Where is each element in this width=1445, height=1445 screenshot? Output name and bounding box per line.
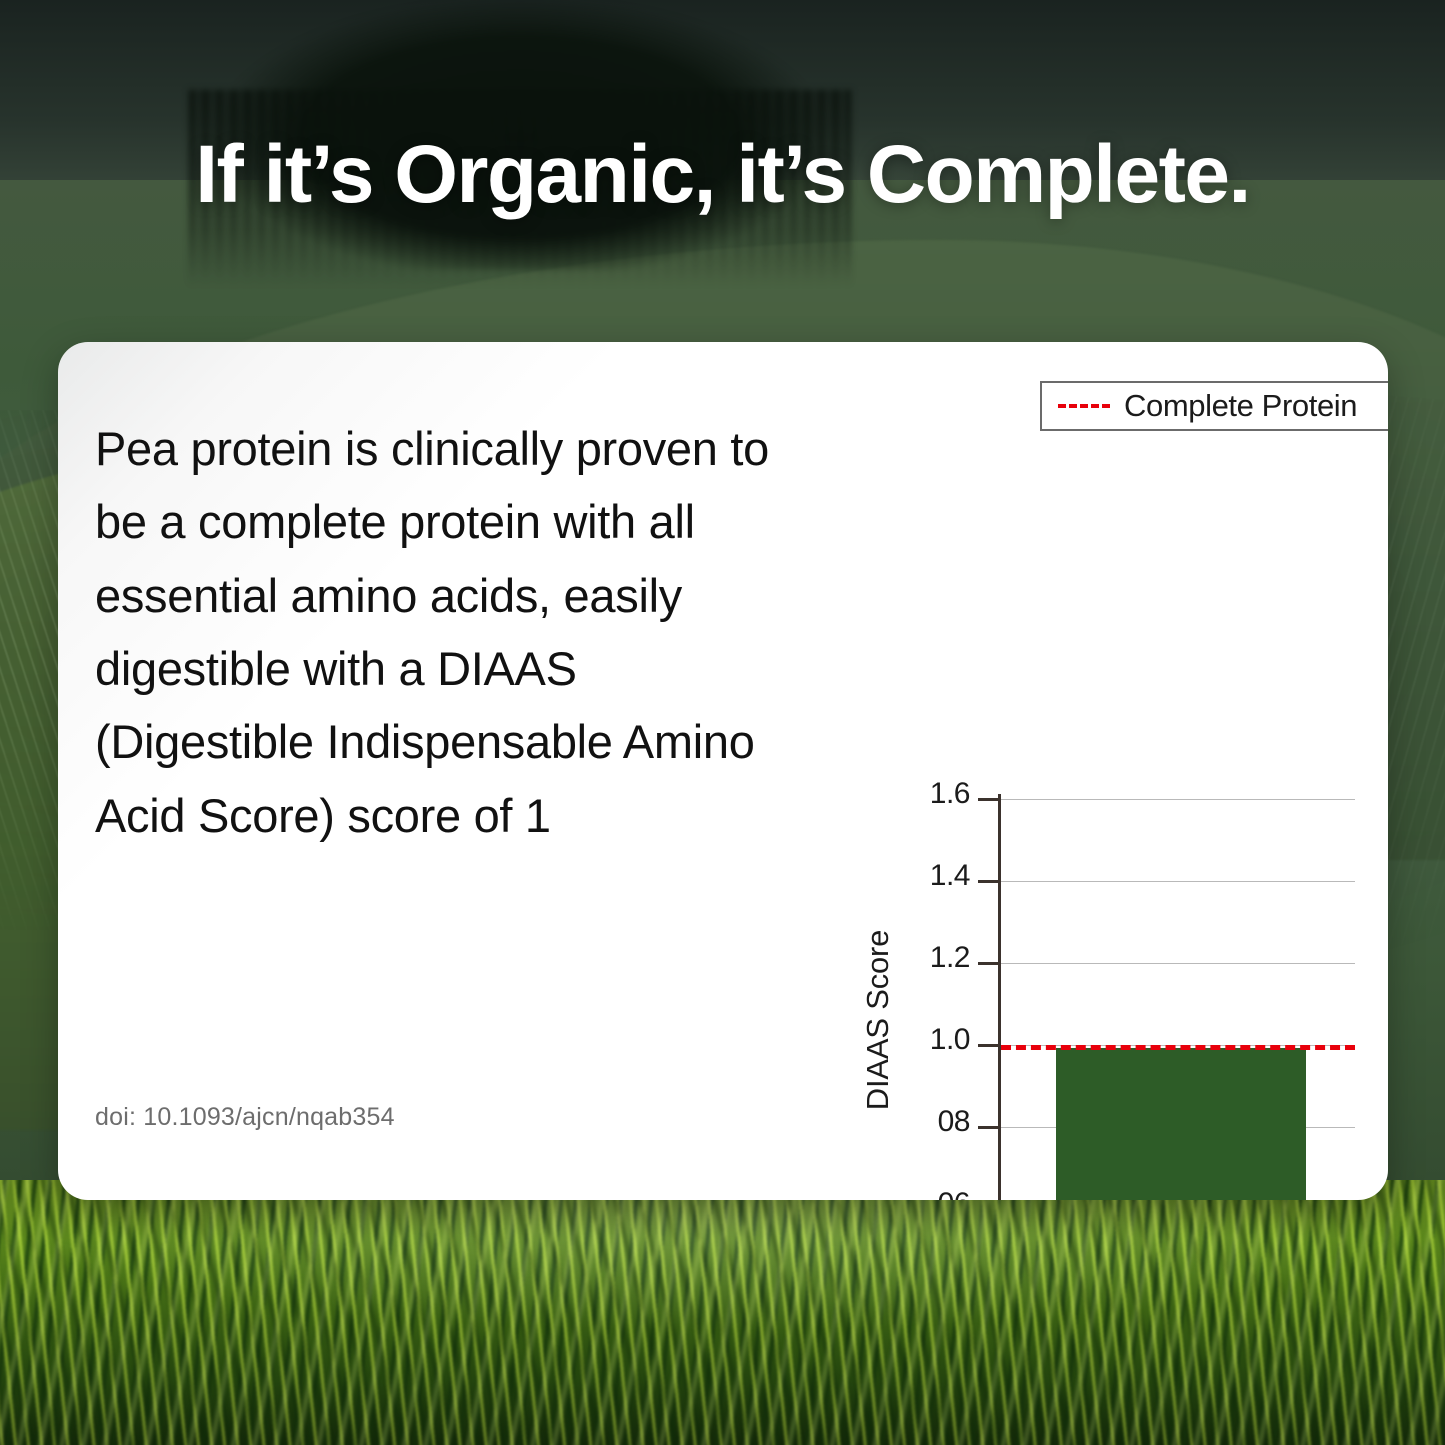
- bar-organic-pea-protein: [1056, 1048, 1306, 1200]
- complete-protein-threshold-line: [1001, 1045, 1355, 1050]
- content-card: Pea protein is clinically proven to be a…: [58, 342, 1388, 1200]
- copy-column: Pea protein is clinically proven to be a…: [95, 412, 795, 852]
- y-tick-label: 1.6: [930, 777, 970, 811]
- diaas-bar-chart: Complete Protein DIAAS Score 1.6 1.4 1.2: [800, 342, 1388, 1200]
- tick-mark: [978, 798, 1000, 801]
- y-tick-label: 1.4: [930, 859, 970, 893]
- plot-area: DIAAS Score 1.6 1.4 1.2: [800, 342, 1388, 1200]
- gridline: [1001, 799, 1355, 800]
- body-paragraph: Pea protein is clinically proven to be a…: [95, 412, 795, 852]
- y-tick-label: 08: [938, 1105, 970, 1139]
- gridline: [1001, 963, 1355, 964]
- tick-mark: [978, 880, 1000, 883]
- y-tick-label: 1.0: [930, 1023, 970, 1057]
- foreground-grass: [0, 1180, 1445, 1445]
- tick-mark: [978, 962, 1000, 965]
- y-tick-label: 06: [938, 1187, 970, 1200]
- tick-mark: [978, 1044, 1000, 1047]
- grass-shading: [0, 1180, 1445, 1445]
- y-axis-spine: [998, 794, 1001, 1200]
- citation-doi: doi: 10.1093/ajcn/nqab354: [95, 1103, 395, 1132]
- gridline: [1001, 881, 1355, 882]
- y-axis-label: DIAAS Score: [860, 890, 896, 1150]
- y-tick-label: 1.2: [930, 941, 970, 975]
- tick-mark: [978, 1126, 1000, 1129]
- page-headline: If it’s Organic, it’s Complete.: [0, 128, 1445, 222]
